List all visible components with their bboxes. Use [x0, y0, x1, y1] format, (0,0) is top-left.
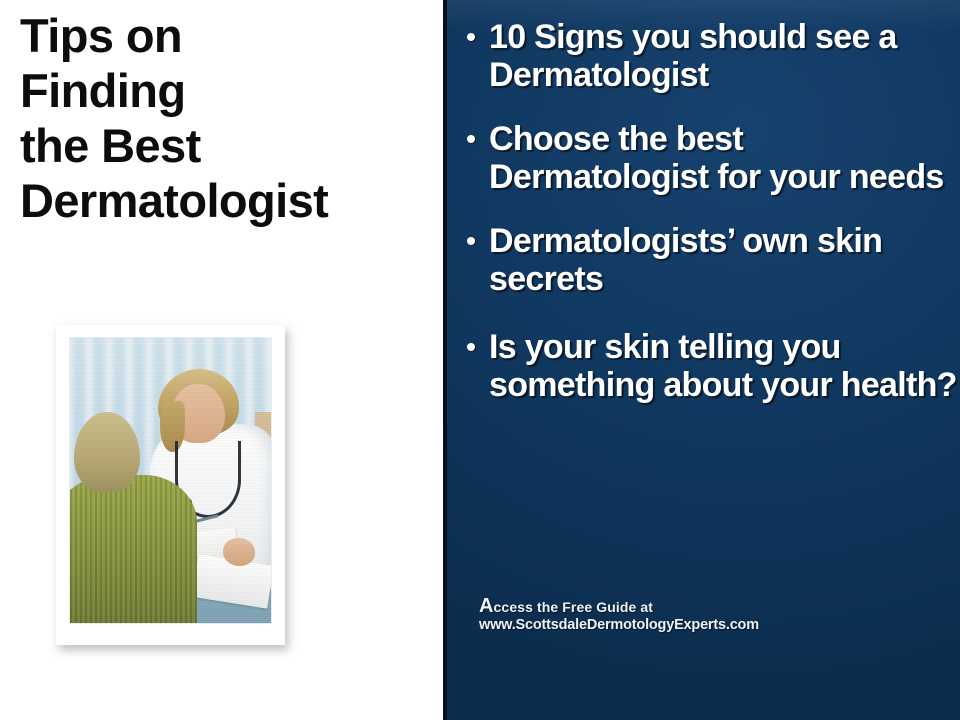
- left-content-pane: Tips on Finding the Best Dermatologist: [0, 0, 443, 720]
- title-line-2: Finding: [20, 63, 440, 118]
- photo-patient-hand: [223, 538, 255, 567]
- bullet-dot-icon: [467, 343, 475, 351]
- bullet-list: 10 Signs you should see a Dermatologist …: [465, 18, 957, 430]
- bullet-dot-icon: [467, 33, 475, 41]
- footer-cta-tail: the Free Guide at: [533, 599, 653, 615]
- title-line-4: Dermatologist: [20, 173, 440, 228]
- bullet-text: Dermatologists’ own skin secrets: [489, 222, 882, 298]
- page-title: Tips on Finding the Best Dermatologist: [20, 8, 440, 228]
- bullet-text: 10 Signs you should see a Dermatologist: [489, 18, 897, 94]
- photo-patient-sweater: [69, 475, 197, 624]
- footer-url[interactable]: www.ScottsdaleDermotologyExperts.com: [479, 616, 809, 634]
- footer-cta-lead: A: [479, 595, 494, 617]
- title-line-3: the Best: [20, 118, 440, 173]
- title-line-1: Tips on: [20, 8, 440, 63]
- footer-cta: Access the Free Guide at www.ScottsdaleD…: [479, 598, 809, 634]
- footer-cta-line: Access the Free Guide at: [479, 598, 809, 616]
- bullet-dot-icon: [467, 135, 475, 143]
- footer-cta-lead-rest: ccess: [494, 599, 533, 615]
- bullet-dot-icon: [467, 237, 475, 245]
- list-item: Choose the best Dermatologist for your n…: [465, 120, 957, 196]
- bullet-text: Is your skin telling you something about…: [489, 328, 957, 404]
- doctor-patient-photo-frame: [56, 325, 285, 645]
- bullet-text: Choose the best Dermatologist for your n…: [489, 120, 944, 196]
- list-item: Dermatologists’ own skin secrets: [465, 222, 957, 298]
- list-item: 10 Signs you should see a Dermatologist: [465, 18, 957, 94]
- slide-canvas: Tips on Finding the Best Dermatologist: [0, 0, 960, 720]
- list-item: Is your skin telling you something about…: [465, 328, 957, 404]
- doctor-patient-photo: [69, 337, 272, 624]
